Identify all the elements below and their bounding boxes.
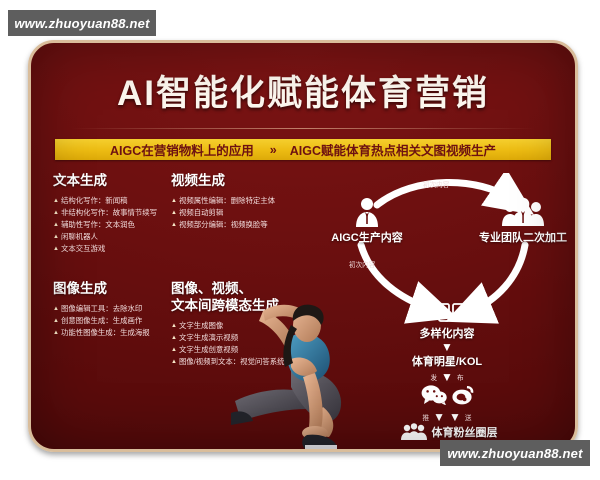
list-item-label: 结构化写作：新闻稿 (61, 195, 128, 207)
flow-node-fans: 体育粉丝圈层 (371, 423, 527, 441)
publish-arrow-row: 发 ▼ 布 (387, 371, 507, 383)
triangle-bullet-icon: ▲ (53, 246, 59, 252)
block-image-generation: 图像生成 ▲图像编辑工具：去除水印 ▲创意图像生成：生成画作 ▲功能性图像生成：… (53, 281, 165, 339)
triangle-bullet-icon: ▲ (53, 234, 59, 240)
list-item: ▲视频部分编辑：视频换脸等 (171, 219, 321, 231)
flow-node-team: 专业团队二次加工 (467, 197, 578, 245)
flow-node-content: e 多样化内容 (395, 301, 499, 341)
list-item: ▲视频属性编辑：删除特定主体 (171, 195, 321, 207)
list-item-label: 辅助性写作：文本润色 (61, 219, 135, 231)
list-item: ▲闲聊机器人 (53, 231, 165, 243)
list-item-label: 文字生成图像 (179, 320, 223, 332)
ribbon-left-label: AIGC在营销物料上的应用 (110, 140, 254, 159)
arrow-down-icon: ▼ (449, 411, 461, 423)
flow-node-aigc: AIGC生产内容 (315, 197, 419, 245)
flow-node-label: AIGC生产内容 (315, 229, 419, 245)
list-item: ▲视频自动剪辑 (171, 207, 321, 219)
title-divider (71, 128, 535, 129)
fans-group-icon (401, 423, 427, 441)
list-item: ▲图像编辑工具：去除水印 (53, 303, 165, 315)
wechat-icon (421, 385, 447, 405)
flow-diagram: AIGC生产内容 专业团队二次加工 (319, 173, 573, 445)
watermark-top-text: www.zhuoyuan88.net (14, 16, 149, 31)
block-text-generation: 文本生成 ▲结构化写作：新闻稿 ▲非结构化写作：故事情节续写 ▲辅助性写作：文本… (53, 173, 165, 255)
svg-text:e: e (421, 303, 430, 323)
triangle-bullet-icon: ▲ (53, 318, 59, 324)
list-item-label: 视频自动剪辑 (179, 207, 223, 219)
triangle-bullet-icon: ▲ (53, 198, 59, 204)
list-item: ▲文本交互游戏 (53, 243, 165, 255)
block-heading: 文本生成 (53, 173, 165, 190)
block-list: ▲结构化写作：新闻稿 ▲非结构化写作：故事情节续写 ▲辅助性写作：文本润色 ▲闲… (53, 195, 165, 255)
watermark-bottom: www.zhuoyuan88.net (440, 440, 590, 466)
poster-card: AI智能化赋能体育营销 AIGC在营销物料上的应用 » AIGC赋能体育热点相关… (28, 40, 578, 452)
edge-label-left: 初次内容 (349, 259, 375, 269)
block-heading: 视频生成 (171, 173, 321, 190)
triangle-bullet-icon: ▲ (171, 347, 177, 353)
publish-label-left: 发 (430, 372, 437, 382)
arrow-down-icon: ▼ (433, 411, 445, 423)
list-item-label: 视频属性编辑：删除特定主体 (179, 195, 275, 207)
poster-stage: www.zhuoyuan88.net AI智能化赋能体育营销 AIGC在营销物料… (0, 0, 600, 480)
flow-node-label: 多样化内容 (395, 325, 499, 341)
weibo-icon (452, 385, 474, 405)
list-item-label: 文本交互游戏 (61, 243, 105, 255)
arrow-content-to-kol: ▼ (395, 341, 499, 353)
triangle-bullet-icon: ▲ (171, 359, 177, 365)
triangle-bullet-icon: ▲ (171, 222, 177, 228)
list-item: ▲辅助性写作：文本润色 (53, 219, 165, 231)
push-label-left: 推 (423, 412, 430, 422)
flow-node-label: 体育明星/KOL (387, 353, 507, 369)
list-item-label: 非结构化写作：故事情节续写 (61, 207, 157, 219)
list-item-label: 视频部分编辑：视频换脸等 (179, 219, 268, 231)
arrow-down-icon: ▼ (441, 371, 453, 383)
arrow-down-icon: ▼ (395, 341, 499, 353)
list-item-label: 创意图像生成：生成画作 (61, 315, 142, 327)
people-group-icon (467, 197, 578, 227)
block-video-generation: 视频生成 ▲视频属性编辑：删除特定主体 ▲视频自动剪辑 ▲视频部分编辑：视频换脸… (171, 173, 321, 231)
triangle-bullet-icon: ▲ (53, 306, 59, 312)
list-item-label: 图像编辑工具：去除水印 (61, 303, 142, 315)
publish-label-right: 布 (457, 372, 464, 382)
triangle-bullet-icon: ▲ (171, 323, 177, 329)
block-heading: 图像生成 (53, 281, 165, 298)
watermark-top: www.zhuoyuan88.net (8, 10, 156, 36)
person-icon (315, 197, 419, 227)
list-item-label: 功能性图像生成：生成海报 (61, 327, 150, 339)
devices-icon: e (395, 301, 499, 323)
chevron-right-icon: » (264, 143, 280, 157)
flow-node-label: 专业团队二次加工 (467, 229, 578, 245)
push-arrow-row: 推 ▼ ▼ 送 (387, 411, 507, 423)
social-icons-row (387, 385, 507, 407)
triangle-bullet-icon: ▲ (171, 210, 177, 216)
page-title: AI智能化赋能体育营销 (31, 65, 575, 116)
edge-label-top: 初次内容 (423, 179, 449, 189)
ribbon-right-label: AIGC赋能体育热点相关文图视频生产 (290, 140, 496, 159)
triangle-bullet-icon: ▲ (53, 222, 59, 228)
triangle-bullet-icon: ▲ (171, 198, 177, 204)
flow-node-kol: 体育明星/KOL (387, 353, 507, 369)
push-label-right: 送 (465, 412, 472, 422)
list-item: ▲创意图像生成：生成画作 (53, 315, 165, 327)
list-item: ▲功能性图像生成：生成海报 (53, 327, 165, 339)
list-item-label: 闲聊机器人 (61, 231, 98, 243)
flow-node-label: 体育粉丝圈层 (432, 424, 498, 440)
triangle-bullet-icon: ▲ (53, 210, 59, 216)
section-ribbon: AIGC在营销物料上的应用 » AIGC赋能体育热点相关文图视频生产 (55, 139, 551, 160)
block-list: ▲视频属性编辑：删除特定主体 ▲视频自动剪辑 ▲视频部分编辑：视频换脸等 (171, 195, 321, 231)
block-list: ▲图像编辑工具：去除水印 ▲创意图像生成：生成画作 ▲功能性图像生成：生成海报 (53, 303, 165, 339)
triangle-bullet-icon: ▲ (53, 330, 59, 336)
list-item: ▲非结构化写作：故事情节续写 (53, 207, 165, 219)
watermark-bottom-text: www.zhuoyuan88.net (447, 446, 582, 461)
triangle-bullet-icon: ▲ (171, 335, 177, 341)
list-item: ▲结构化写作：新闻稿 (53, 195, 165, 207)
